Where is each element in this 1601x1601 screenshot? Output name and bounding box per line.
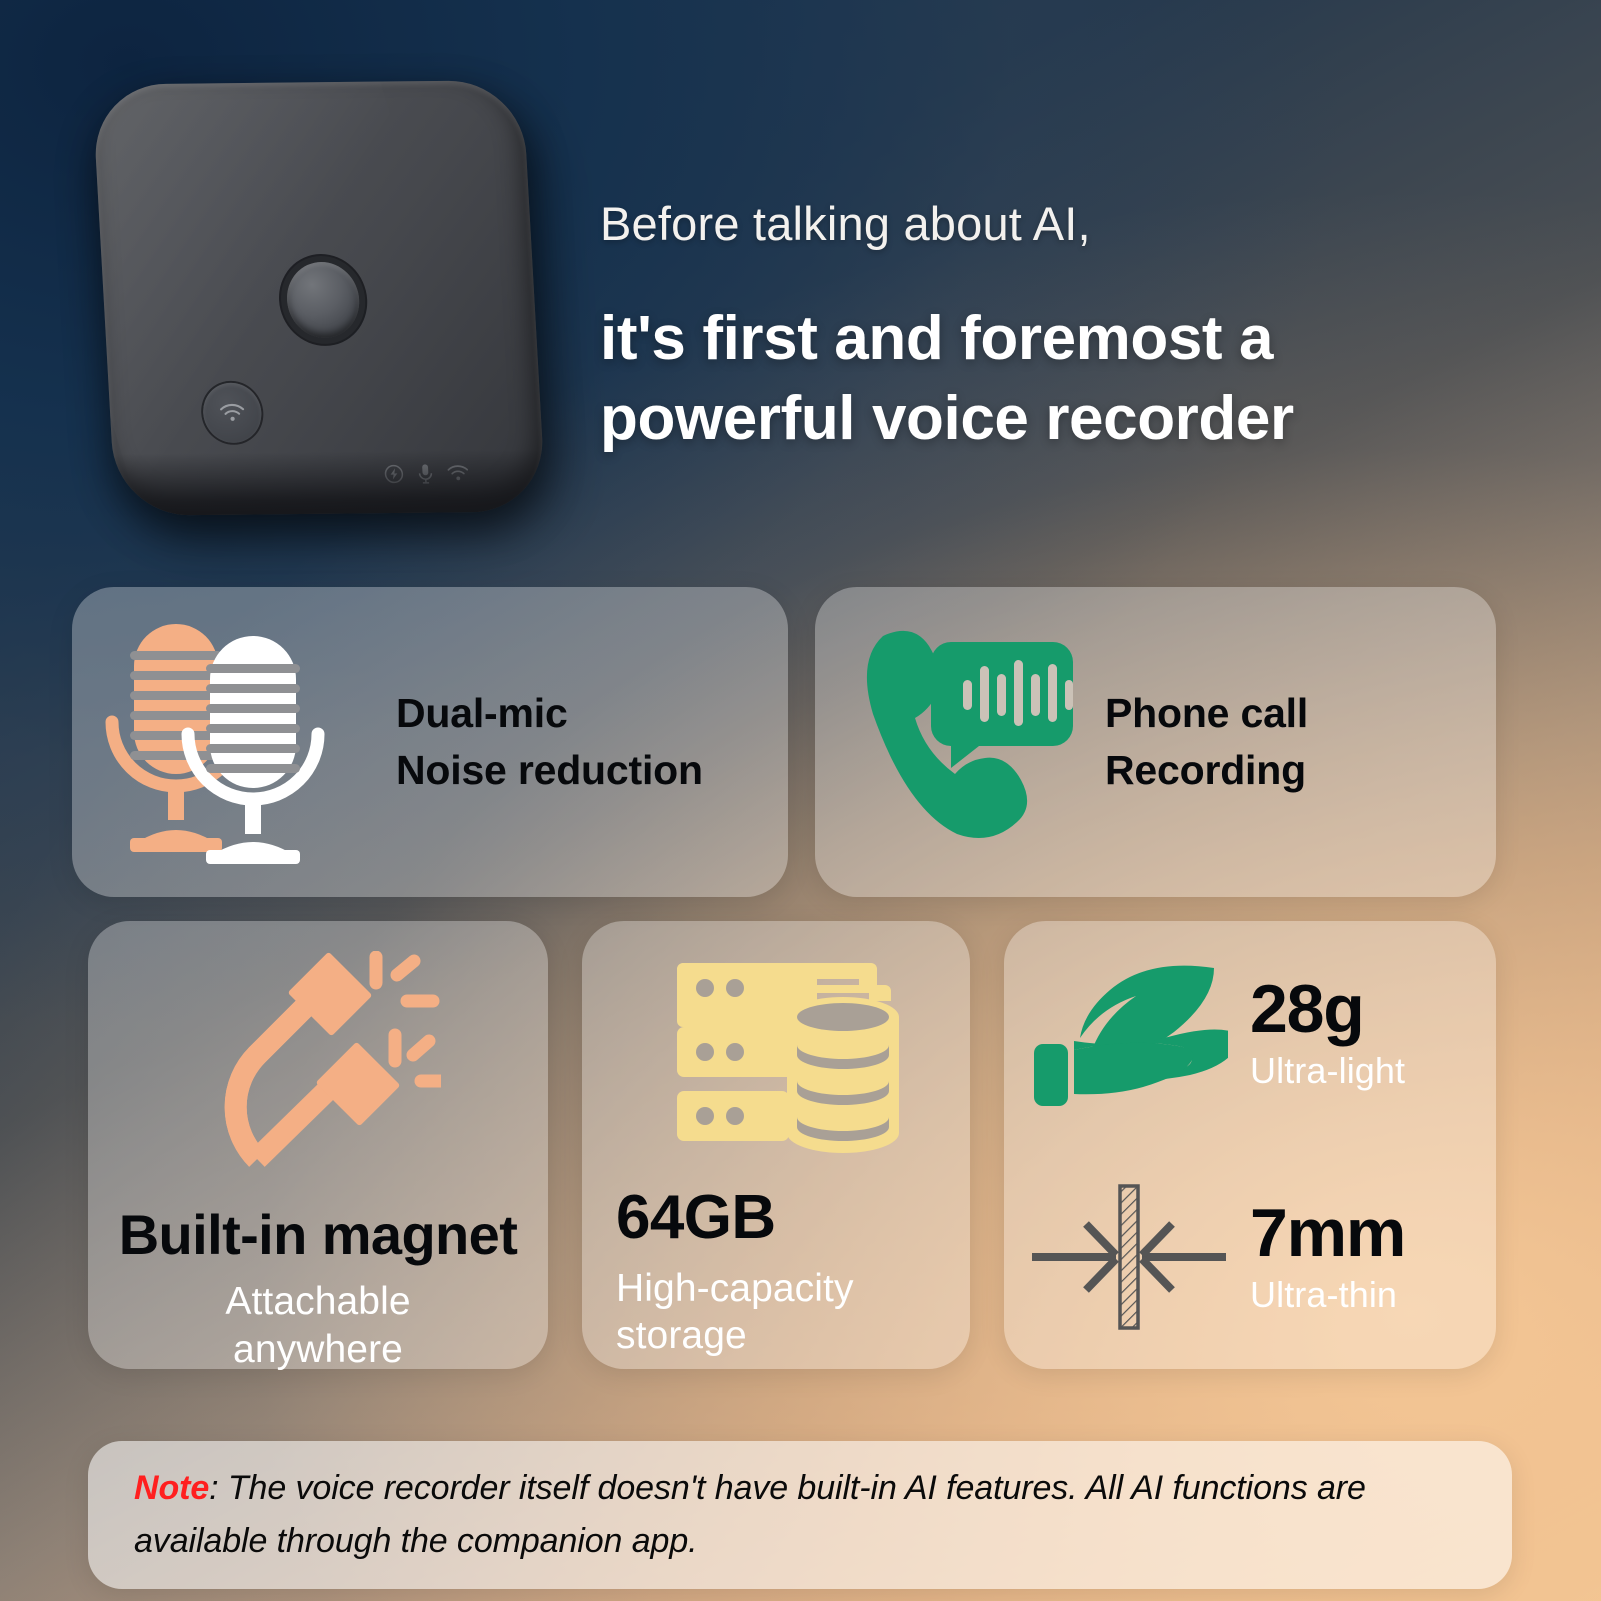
feature-sub-line-1: Attachable [225, 1278, 410, 1326]
feature-title-storage: 64GB [616, 1185, 776, 1251]
feature-title-magnet: Built-in magnet [119, 1205, 518, 1264]
note-label: Note [134, 1469, 209, 1507]
spec-value-weight: 28g [1250, 976, 1405, 1043]
feature-title-line-1: Dual-mic [396, 685, 703, 742]
magnet-sparks-upper [376, 957, 433, 1001]
hand-thumb [1034, 1044, 1068, 1106]
device-edge [106, 449, 546, 515]
feature-title-phone-call: Phone call Recording [1105, 685, 1308, 798]
feature-title-dual-mic: Dual-mic Noise reduction [396, 685, 703, 798]
wifi-icon [219, 403, 246, 423]
headline-line-2: powerful voice recorder [600, 379, 1500, 458]
dual-microphone-icon [102, 616, 372, 868]
note-text: Note: The voice recorder itself doesn't … [88, 1441, 1512, 1589]
database-storage-icon [669, 951, 899, 1171]
feature-sub-storage: High-capacity storage [616, 1265, 854, 1360]
feature-title-line-1: Phone call [1105, 685, 1308, 742]
headline-main: it's first and foremost a powerful voice… [600, 299, 1500, 458]
feature-sub-line-2: storage [616, 1312, 854, 1360]
feature-card-magnet[interactable]: Built-in magnet Attachable anywhere [88, 921, 548, 1369]
feature-title-line-2: Noise reduction [396, 742, 703, 799]
spec-label-thickness: Ultra-thin [1250, 1275, 1405, 1315]
speech-bubble-waveform [931, 642, 1073, 768]
note-body: The voice recorder itself doesn't have b… [134, 1469, 1366, 1560]
infographic-poster: Before talking about AI, it's first and … [0, 0, 1601, 1601]
database-cylinder [787, 997, 899, 1153]
thickness-icon [1028, 1182, 1228, 1332]
feature-title-line-2: Recording [1105, 742, 1308, 799]
device-sheen [92, 80, 475, 481]
magnet-icon [195, 951, 441, 1189]
note-separator: : [209, 1469, 228, 1507]
product-device-image [104, 82, 564, 552]
feature-sub-line-1: High-capacity [616, 1265, 854, 1313]
spec-value-thickness: 7mm [1250, 1200, 1405, 1267]
headline-eyebrow: Before talking about AI, [600, 196, 1500, 251]
feature-card-dual-mic[interactable]: Dual-mic Noise reduction [72, 587, 788, 897]
feature-card-phone-call[interactable]: Phone call Recording [815, 587, 1496, 897]
note-card: Note: The voice recorder itself doesn't … [88, 1441, 1512, 1589]
spec-row-thickness: 7mm Ultra-thin [1004, 1145, 1496, 1369]
magnet-sparks-lower [395, 1035, 441, 1081]
feature-card-storage[interactable]: 64GB High-capacity storage [582, 921, 970, 1369]
feature-sub-magnet: Attachable anywhere [225, 1278, 410, 1373]
feature-card-specs[interactable]: 28g Ultra-light [1004, 921, 1496, 1369]
spec-label-weight: Ultra-light [1250, 1051, 1405, 1091]
headline-line-1: it's first and foremost a [600, 299, 1500, 378]
phone-call-recording-icon [845, 618, 1081, 866]
microphone-white [188, 636, 318, 864]
hand-leaf-icon [1028, 958, 1228, 1108]
spec-row-weight: 28g Ultra-light [1004, 921, 1496, 1145]
headline-block: Before talking about AI, it's first and … [600, 196, 1500, 458]
feature-sub-line-2: anywhere [225, 1326, 410, 1374]
device-body [92, 80, 547, 516]
thickness-bar [1120, 1186, 1138, 1328]
